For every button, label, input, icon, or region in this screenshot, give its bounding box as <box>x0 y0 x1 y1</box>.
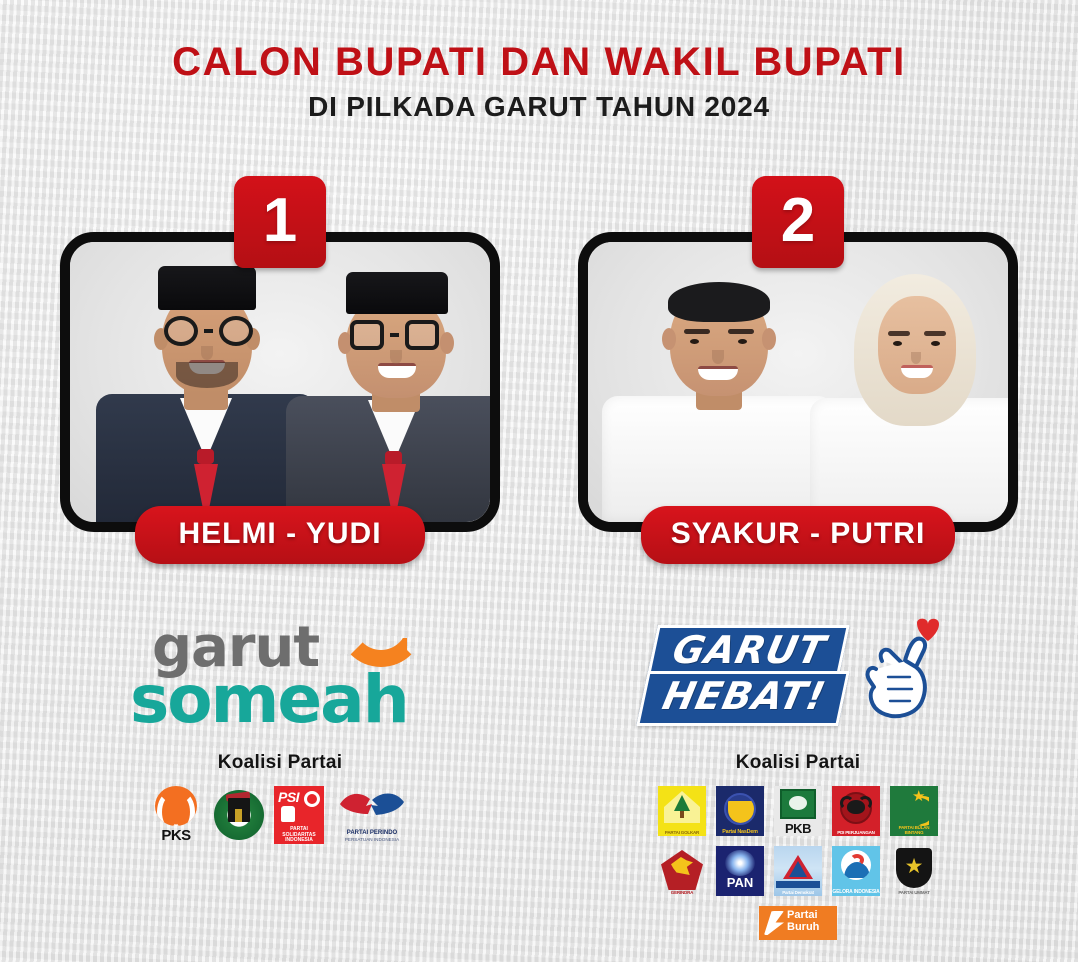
gelora-label: GELORA INDONESIA <box>832 890 880 895</box>
candidate-person-helmi <box>106 258 306 522</box>
party-logo-pbb: ★ PARTAI BULAN BINTANG <box>890 786 938 836</box>
brand-col-2: GARUT HEBAT! <box>578 612 1018 732</box>
candidate-name-2: SYAKUR - PUTRI <box>671 517 926 550</box>
eagle-icon <box>338 790 406 816</box>
party-logo-nasdem: Partai NasDem <box>716 786 764 836</box>
ummat-star-icon: ★ <box>905 856 924 877</box>
party-logo-demokrat: Partai Demokrat <box>774 846 822 896</box>
buruh-mark-icon <box>764 911 784 935</box>
garut-hebat-logo: GARUT HEBAT! <box>648 613 948 731</box>
candidate-photo-1 <box>70 242 490 522</box>
candidate-number-2: 2 <box>781 190 815 252</box>
candidate-person-yudi <box>292 260 490 522</box>
party-logo-pdip: PDI PERJUANGAN <box>832 786 880 836</box>
gelora-circle-icon <box>841 850 871 880</box>
buruh-label: Partai Buruh <box>787 910 819 934</box>
rising-sun-icon <box>725 850 755 876</box>
gerindra-label: GERINDRA <box>658 891 706 896</box>
golkar-label: PARTAI GOLKAR <box>658 831 706 836</box>
candidate-person-syakur <box>616 256 826 522</box>
ummat-label: PARTAI UMMAT <box>890 891 938 896</box>
banyan-tree-icon <box>674 795 690 811</box>
hebat-word-garut: GARUT <box>669 631 829 671</box>
tree-trunk-icon <box>680 811 684 818</box>
candidate-card-1[interactable]: 1 <box>60 176 500 564</box>
page-subtitle: DI PILKADA GARUT TAHUN 2024 <box>0 93 1078 121</box>
party-logo-ppp <box>212 786 266 844</box>
party-logo-pkb: PKB <box>774 786 822 836</box>
candidate-photo-frame-2 <box>578 232 1018 532</box>
party-logo-pan: PAN <box>716 846 764 896</box>
coalition-row: Koalisi Partai PKS PSI PARTAI SOLIDARITA… <box>0 752 1078 940</box>
coalition-label-2: Koalisi Partai <box>736 752 861 774</box>
candidate-photo-2 <box>588 242 1008 522</box>
pdip-label: PDI PERJUANGAN <box>832 831 880 836</box>
someah-word-someah: someah <box>130 661 408 738</box>
pks-label: PKS <box>161 827 190 844</box>
pks-crescent-icon <box>155 786 197 826</box>
party-logo-gelora: GELORA INDONESIA <box>832 846 880 896</box>
coalition-col-1: Koalisi Partai PKS PSI PARTAI SOLIDARITA… <box>60 752 500 940</box>
candidate-number-badge-1: 1 <box>234 176 326 268</box>
brand-logo-row: garut someah GARUT HEBAT! <box>0 612 1078 732</box>
coalition-col-2: Koalisi Partai PARTAI GOLKAR Partai NasD… <box>578 752 1018 940</box>
pkb-label: PKB <box>774 821 822 836</box>
pan-label: PAN <box>716 875 764 890</box>
candidate-card-2[interactable]: 2 <box>578 176 1018 564</box>
page-title: CALON BUPATI DAN WAKIL BUPATI <box>0 42 1078 82</box>
party-logo-buruh: Partai Buruh <box>759 906 837 940</box>
party-logo-golkar: PARTAI GOLKAR <box>658 786 706 836</box>
demokrat-label: Partai Demokrat <box>774 891 822 896</box>
candidate-list: 1 <box>0 176 1078 564</box>
party-logo-pks: PKS <box>148 786 204 844</box>
party-logo-perindo: PARTAI PERINDO PERSATUAN INDONESIA <box>332 786 412 844</box>
party-logo-psi: PSI PARTAI SOLIDARITAS INDONESIA <box>274 786 324 844</box>
fist-icon <box>281 806 295 822</box>
nasdem-circle-icon <box>724 793 756 825</box>
star-icon: ★ <box>912 789 925 804</box>
finger-heart-icon <box>854 617 946 725</box>
psi-label: PSI <box>278 789 299 805</box>
globe-icon <box>787 794 809 812</box>
candidate-number-badge-2: 2 <box>752 176 844 268</box>
perindo-tagline: PARTAI PERINDO PERSATUAN INDONESIA <box>332 830 412 842</box>
party-logo-ummat: ★ PARTAI UMMAT <box>890 846 938 896</box>
bull-head-icon <box>847 800 865 814</box>
coalition-logos-1: PKS PSI PARTAI SOLIDARITAS INDONESIA <box>148 786 412 844</box>
party-logo-gerindra: GERINDRA <box>658 846 706 896</box>
nasdem-label: Partai NasDem <box>716 830 764 835</box>
candidate-person-putri <box>816 258 1008 522</box>
coalition-logos-2: PARTAI GOLKAR Partai NasDem PKB PDI PERJ… <box>648 786 948 940</box>
demokrat-bar-icon <box>776 881 820 888</box>
rose-icon <box>304 791 320 807</box>
candidate-name-plate-2: SYAKUR - PUTRI <box>641 506 956 564</box>
kaaba-icon <box>228 798 250 822</box>
candidate-name-plate-1: HELMI - YUDI <box>135 506 425 564</box>
candidate-number-1: 1 <box>263 190 297 252</box>
mercy-star-inner-icon <box>789 861 807 877</box>
page-header: CALON BUPATI DAN WAKIL BUPATI DI PILKADA… <box>0 0 1078 121</box>
psi-tagline: PARTAI SOLIDARITAS INDONESIA <box>274 827 324 843</box>
pbb-label: PARTAI BULAN BINTANG <box>890 826 938 835</box>
candidate-photo-frame-1 <box>60 232 500 532</box>
hebat-banner-bottom: HEBAT! <box>636 671 849 726</box>
candidate-name-1: HELMI - YUDI <box>178 517 381 550</box>
hebat-word-hebat: HEBAT! <box>659 677 829 717</box>
gelora-arc-icon <box>850 854 864 866</box>
moon-icon <box>728 801 754 823</box>
coalition-label-1: Koalisi Partai <box>218 752 343 774</box>
brand-col-1: garut someah <box>60 612 500 732</box>
garut-someah-logo: garut someah <box>130 613 430 731</box>
